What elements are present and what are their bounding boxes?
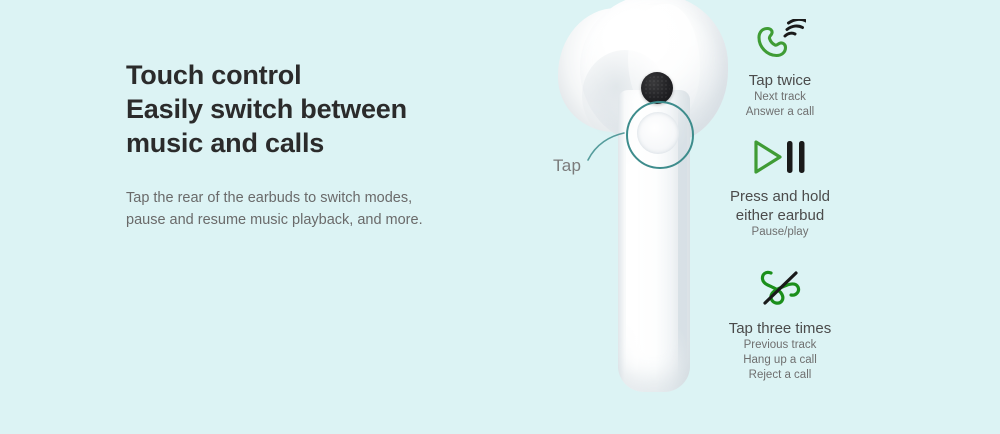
control-subline: Next track — [690, 90, 870, 105]
headline-line-3: music and calls — [126, 126, 526, 160]
subtitle-line-1: Tap the rear of the earbuds to switch mo… — [126, 187, 526, 209]
control-item-tap-twice: Tap twice Next track Answer a call — [690, 16, 870, 120]
control-subline: Pause/play — [690, 225, 870, 240]
phone-call-waves-icon — [690, 16, 870, 66]
callout-label-tap: Tap — [553, 156, 581, 176]
control-title: Press and hold either earbud — [690, 187, 870, 225]
headline-line-1: Touch control — [126, 58, 526, 92]
control-subline: Hang up a call — [690, 353, 870, 368]
control-subline: Answer a call — [690, 105, 870, 120]
control-subline: Previous track — [690, 338, 870, 353]
page-title: Touch control Easily switch between musi… — [126, 58, 526, 160]
control-list: Tap twice Next track Answer a call Press… — [690, 16, 870, 389]
headline-line-2: Easily switch between — [126, 92, 526, 126]
control-item-tap-three-times: Tap three times Previous track Hang up a… — [690, 264, 870, 383]
control-sublines: Previous track Hang up a call Reject a c… — [690, 338, 870, 383]
play-pause-icon — [690, 132, 870, 182]
speaker-mesh-dot-icon — [641, 72, 673, 104]
phone-hangup-slash-icon — [690, 264, 870, 314]
subtitle-line-2: pause and resume music playback, and mor… — [126, 209, 526, 231]
promo-banner: Touch control Easily switch between musi… — [0, 0, 1000, 434]
control-title: Tap three times — [690, 319, 870, 338]
control-sublines: Next track Answer a call — [690, 90, 870, 120]
control-sublines: Pause/play — [690, 225, 870, 240]
subtitle: Tap the rear of the earbuds to switch mo… — [126, 187, 526, 231]
control-subline: Reject a call — [690, 368, 870, 383]
control-title-line-2: either earbud — [690, 206, 870, 225]
control-item-press-hold: Press and hold either earbud Pause/play — [690, 132, 870, 240]
copy-block: Touch control Easily switch between musi… — [126, 58, 526, 231]
control-title-line-1: Press and hold — [690, 187, 870, 206]
control-title: Tap twice — [690, 71, 870, 90]
touch-ring-highlight — [626, 101, 694, 169]
